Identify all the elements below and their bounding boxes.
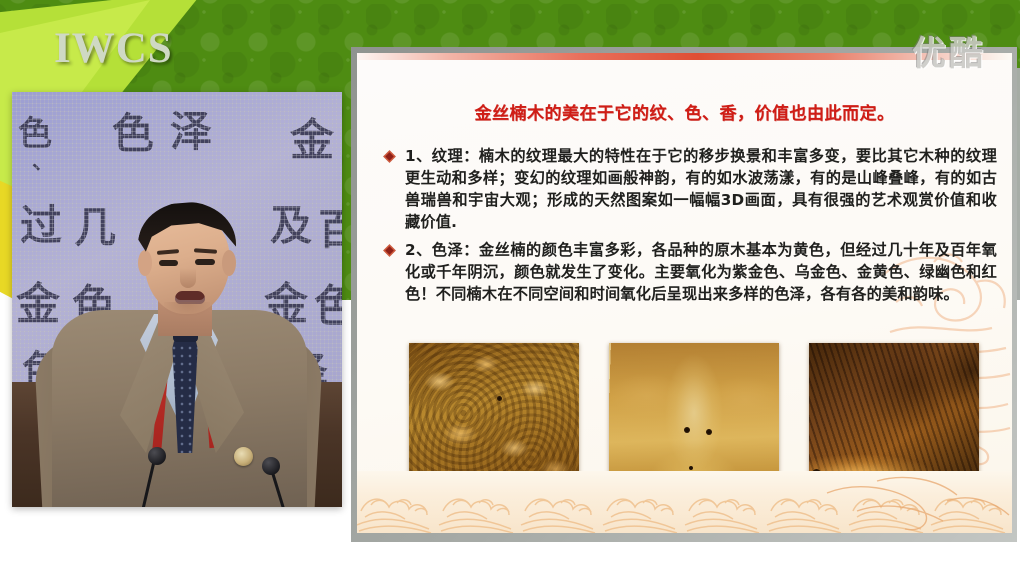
speaker-figure (12, 92, 342, 507)
wood-knot (706, 429, 712, 435)
bullet-text: 1、纹理：楠木的纹理最大的特性在于它的移步换景和丰富多变，要比其它木种的纹理更生… (405, 145, 997, 233)
presentation-slide: 金丝楠木的美在于它的纹、色、香，价值也由此而定。 1、纹理：楠木的纹理最大的特性… (357, 53, 1012, 533)
cloud-wave-pattern-icon (357, 471, 1012, 533)
microphone-head-left (148, 447, 166, 465)
slide-bullet-list: 1、纹理：楠木的纹理最大的特性在于它的移步换景和丰富多变，要比其它木种的纹理更生… (377, 145, 997, 311)
wood-knot (689, 466, 693, 470)
speaker-ear-left (138, 250, 152, 276)
iwcs-logo: IWCS (54, 24, 173, 73)
speaker-ear-right (222, 250, 236, 276)
youku-watermark: 优酷 (912, 26, 986, 75)
speaker-video-panel: 色 、 色 泽 金 过 几 及 百 金 色 金 色 色 泽 (12, 92, 342, 507)
slide-title: 金丝楠木的美在于它的纹、色、香，价值也由此而定。 (357, 99, 1012, 124)
diamond-bullet-icon (383, 244, 396, 257)
list-item: 1、纹理：楠木的纹理最大的特性在于它的移步换景和丰富多变，要比其它木种的纹理更生… (377, 145, 997, 233)
list-item: 2、色泽：金丝楠的颜色丰富多彩，各品种的原木基本为黄色，但经过几十年及百年氧化或… (377, 239, 997, 305)
speaker-eye-left (159, 260, 178, 266)
speaker-badge (234, 447, 253, 466)
speaker-chin (164, 302, 210, 316)
bullet-text: 2、色泽：金丝楠的颜色丰富多彩，各品种的原木基本为黄色，但经过几十年及百年氧化或… (405, 239, 997, 305)
wood-knot (684, 427, 690, 433)
speaker-eye-right (195, 259, 215, 265)
slide-cloud-wave-border (357, 471, 1012, 533)
speaker-nose (180, 268, 196, 288)
wood-knot (497, 396, 502, 401)
screenshot-root: IWCS 优酷 色 、 色 泽 金 过 几 及 百 金 色 金 色 色 泽 (0, 0, 1020, 575)
microphone-head-right (262, 457, 280, 475)
diamond-bullet-icon (383, 150, 396, 163)
